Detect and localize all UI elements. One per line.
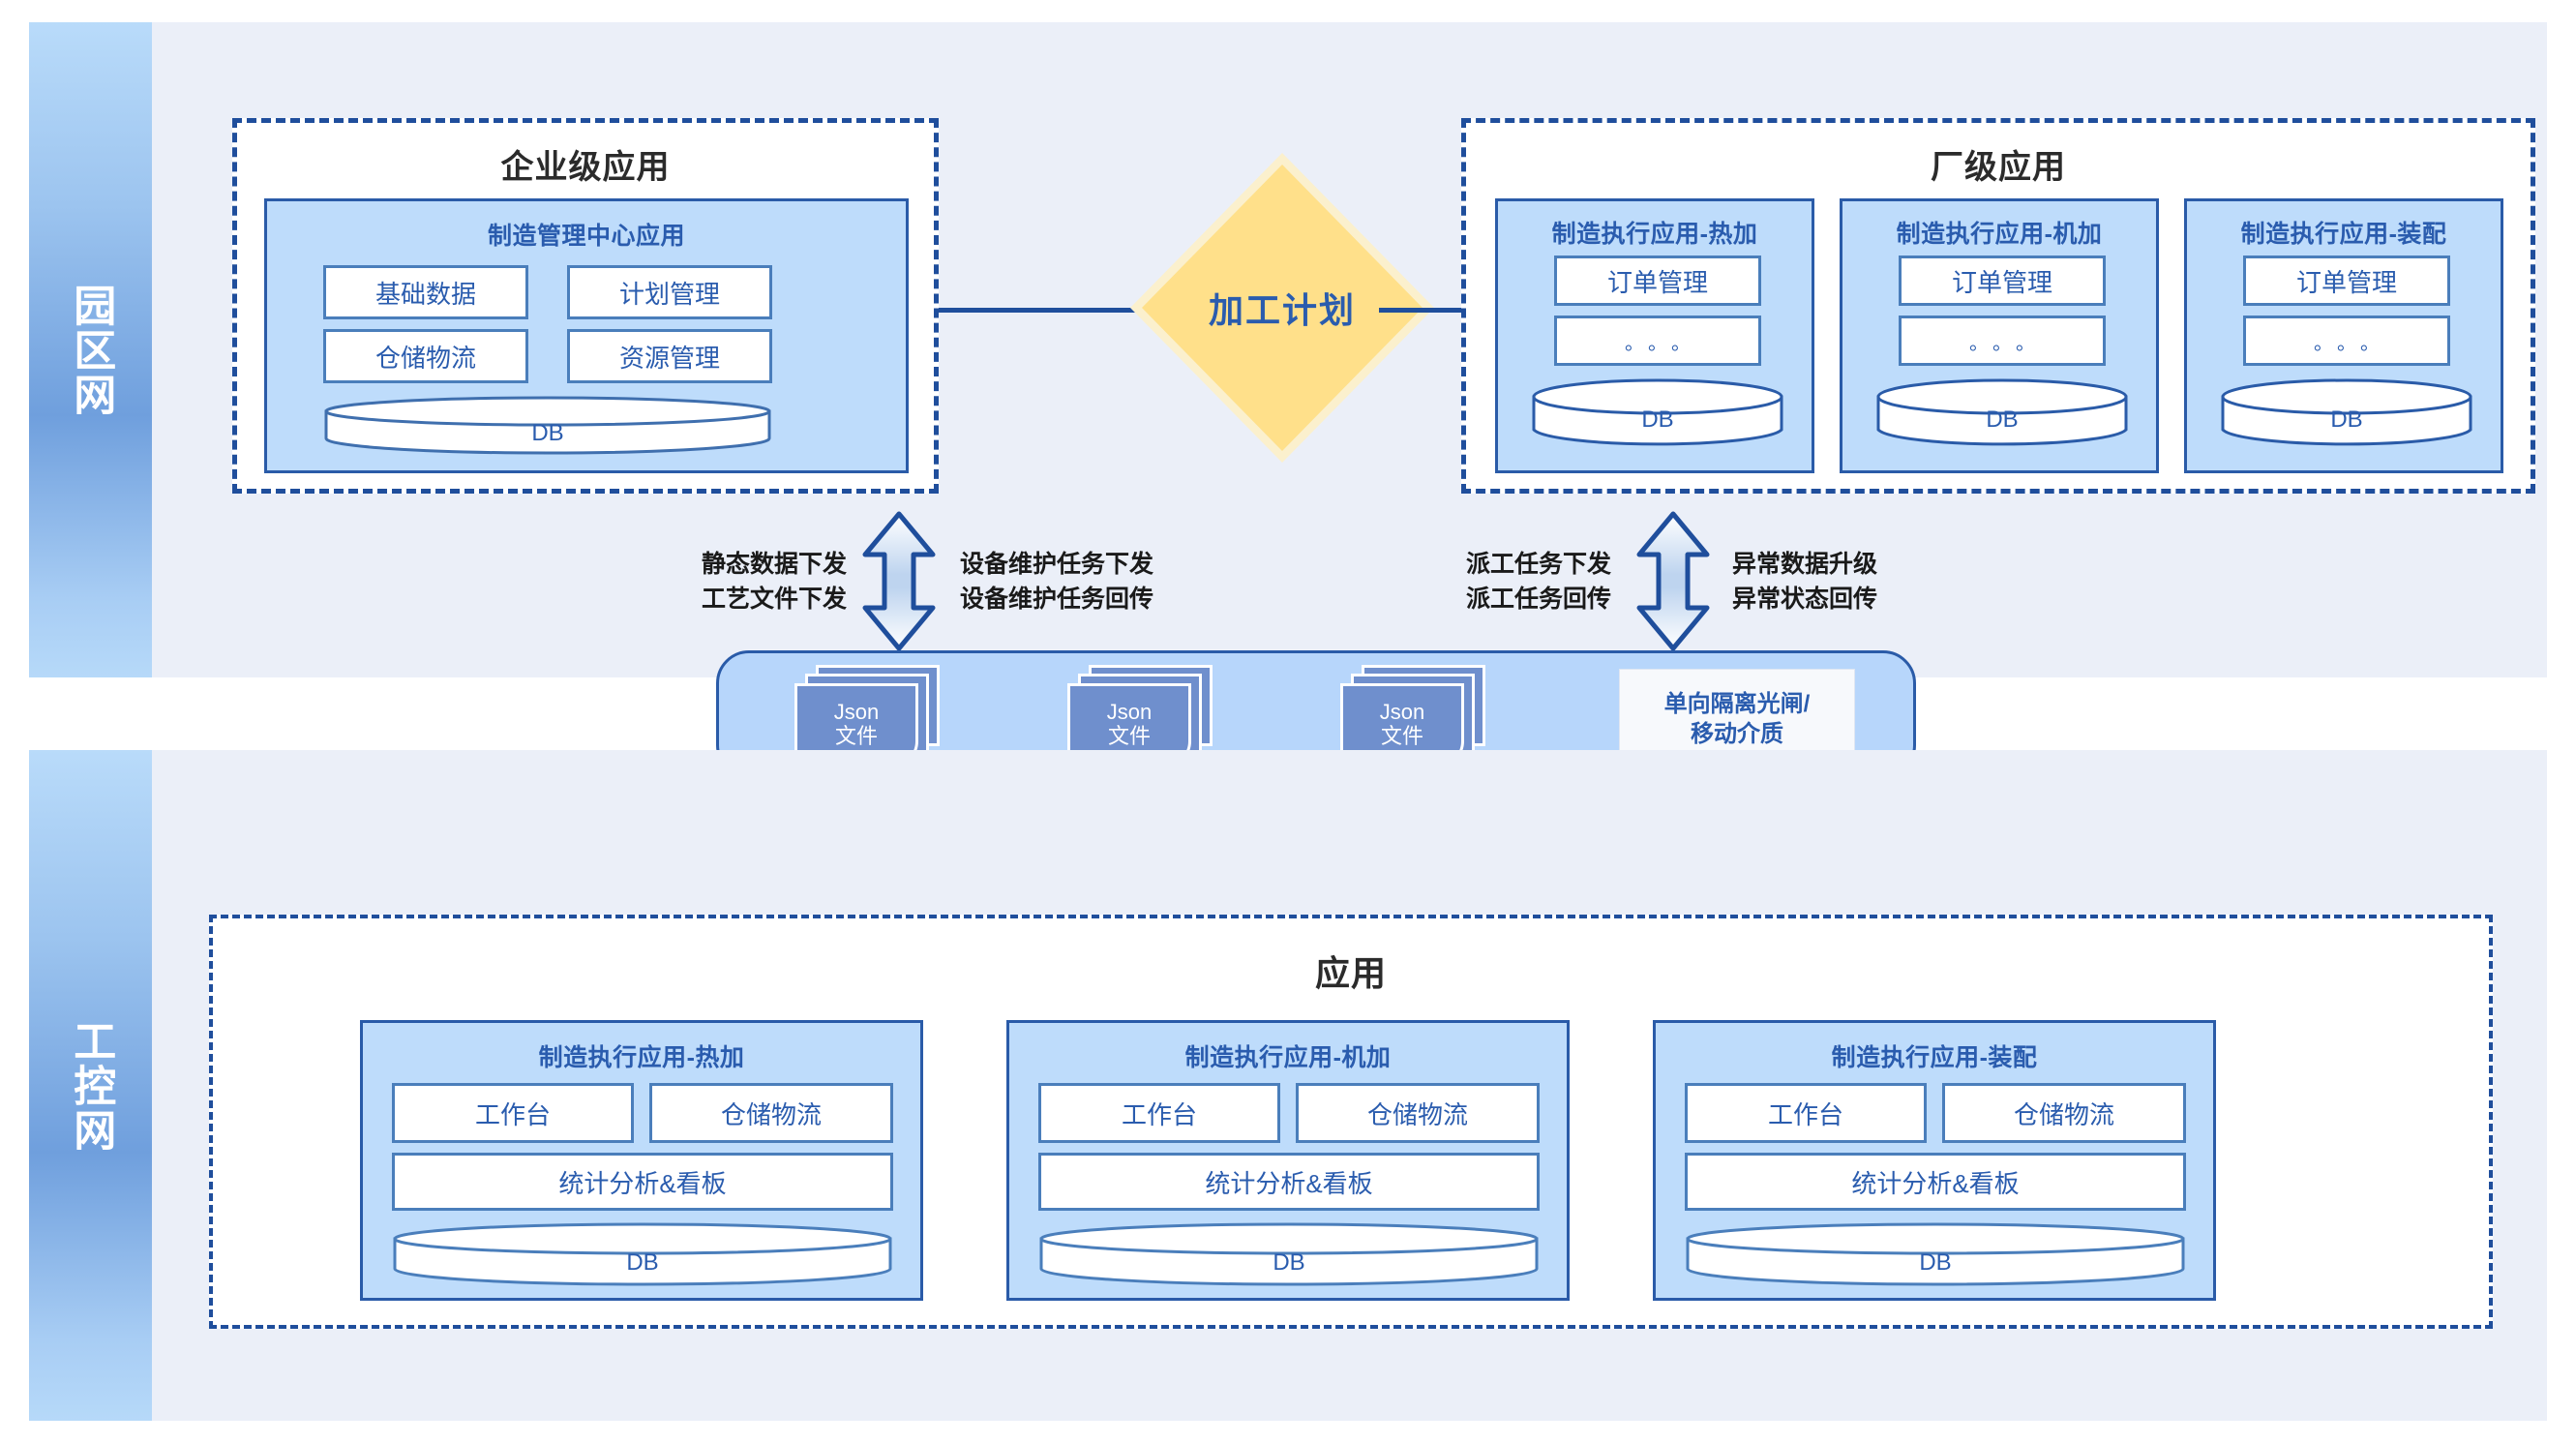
ics-panel-hot-processing[interactable]: 制造执行应用-热加 工作台 仓储物流 统计分析&看板 DB [360,1020,923,1301]
json-label-line1: Json [834,701,879,725]
factory-panel-assembly[interactable]: 制造执行应用-装配 订单管理 。。。 DB [2184,198,2503,473]
ics-module-warehouse-1[interactable]: 仓储物流 [649,1083,893,1143]
flow-label-maintenance-task: 设备维护任务下发 设备维护任务回传 [960,547,1153,617]
ics-module-workbench-1[interactable]: 工作台 [392,1083,634,1143]
ics-module-analytics-2[interactable]: 统计分析&看板 [1038,1153,1540,1211]
ics-module-workbench-2[interactable]: 工作台 [1038,1083,1280,1143]
ics-module-warehouse-3[interactable]: 仓储物流 [1942,1083,2186,1143]
ics-db-label-1: DB [392,1249,893,1277]
flow-line-2: 工艺文件下发 [619,582,847,616]
factory-db-3: DB [2220,377,2473,449]
gateway-to-factory-line [1379,308,1474,313]
factory-panel-title-2: 制造执行应用-机加 [1842,215,2156,250]
upper-double-arrow-right [1635,511,1711,651]
manufacturing-center-panel[interactable]: 制造管理中心应用 基础数据 计划管理 仓储物流 资源管理 DB [264,198,909,473]
flow-line-2: 异常状态回传 [1732,582,1877,616]
ics-panel-machining[interactable]: 制造执行应用-机加 工作台 仓储物流 统计分析&看板 DB [1006,1020,1570,1301]
enterprise-db-label: DB [323,420,772,447]
diagram-canvas: 园区网 企业级应用 制造管理中心应用 基础数据 计划管理 仓储物流 资源管理 D… [0,0,2576,1443]
factory-module-order-1[interactable]: 订单管理 [1554,256,1761,306]
ics-module-warehouse-2[interactable]: 仓储物流 [1296,1083,1540,1143]
ics-module-analytics-1[interactable]: 统计分析&看板 [392,1153,893,1211]
factory-module-order-2[interactable]: 订单管理 [1899,256,2106,306]
flow-line-1: 设备维护任务下发 [960,547,1153,582]
json-label-line1: Json [1107,701,1152,725]
factory-panel-title-3: 制造执行应用-装配 [2187,215,2501,250]
factory-module-order-3[interactable]: 订单管理 [2243,256,2450,306]
json-label-line1: Json [1380,701,1424,725]
flow-label-dispatch-task: 派工任务下发 派工任务回传 [1355,547,1611,617]
factory-panel-machining[interactable]: 制造执行应用-机加 订单管理 。。。 DB [1840,198,2159,473]
manufacturing-center-title: 制造管理中心应用 [267,217,906,252]
ics-panel-title-3: 制造执行应用-装配 [1656,1038,2213,1073]
upper-double-arrow-left [861,511,937,651]
json-label-line2: 文件 [835,725,878,749]
factory-module-more-2[interactable]: 。。。 [1899,316,2106,366]
factory-db-label-1: DB [1531,406,1784,434]
ics-module-workbench-3[interactable]: 工作台 [1685,1083,1927,1143]
ics-module-analytics-3[interactable]: 统计分析&看板 [1685,1153,2186,1211]
flow-line-1: 异常数据升级 [1732,547,1877,582]
gate-label-line1: 单向隔离光闸/ [1664,689,1811,719]
enterprise-db-cylinder: DB [323,395,772,455]
ics-panel-title-2: 制造执行应用-机加 [1009,1038,1567,1073]
ics-panel-assembly[interactable]: 制造执行应用-装配 工作台 仓储物流 统计分析&看板 DB [1653,1020,2216,1301]
ics-db-3: DB [1685,1222,2186,1286]
module-warehouse-logistics[interactable]: 仓储物流 [323,329,528,383]
factory-db-2: DB [1875,377,2129,449]
ics-group-frame: 应用 制造执行应用-热加 工作台 仓储物流 统计分析&看板 DB 制造执行应用-… [209,915,2493,1329]
factory-module-more-1[interactable]: 。。。 [1554,316,1761,366]
factory-db-label-3: DB [2220,406,2473,434]
ics-network-tab: 工控网 [29,750,152,1421]
ics-network-label: 工控网 [68,1019,114,1153]
module-basic-data[interactable]: 基础数据 [323,265,528,319]
json-label-line2: 文件 [1108,725,1151,749]
factory-group-frame: 厂级应用 制造执行应用-热加 订单管理 。。。 DB 制造执行应用-机加 订单管… [1461,118,2535,494]
json-label-line2: 文件 [1381,725,1423,749]
enterprise-group-frame: 企业级应用 制造管理中心应用 基础数据 计划管理 仓储物流 资源管理 DB [232,118,939,494]
factory-db-1: DB [1531,377,1784,449]
module-plan-management[interactable]: 计划管理 [567,265,772,319]
gate-label-line2: 移动介质 [1691,719,1783,749]
factory-panel-hot-processing[interactable]: 制造执行应用-热加 订单管理 。。。 DB [1495,198,1814,473]
ics-db-label-2: DB [1038,1249,1540,1277]
ics-db-1: DB [392,1222,893,1286]
ics-db-label-3: DB [1685,1249,2186,1277]
flow-line-2: 派工任务回传 [1355,582,1611,616]
park-network-label: 园区网 [68,284,114,417]
park-network-tab: 园区网 [29,22,152,677]
ics-panel-title-1: 制造执行应用-热加 [363,1038,920,1073]
flow-line-1: 静态数据下发 [619,547,847,582]
ics-db-2: DB [1038,1222,1540,1286]
factory-module-more-3[interactable]: 。。。 [2243,316,2450,366]
flow-label-static-data: 静态数据下发 工艺文件下发 [619,547,847,617]
ics-group-title: 应用 [213,946,2489,996]
factory-group-title: 厂级应用 [1466,140,2531,188]
enterprise-group-title: 企业级应用 [237,140,934,188]
factory-db-label-2: DB [1875,406,2129,434]
flow-line-2: 设备维护任务回传 [960,582,1153,616]
factory-panel-title-1: 制造执行应用-热加 [1498,215,1812,250]
module-resource-management[interactable]: 资源管理 [567,329,772,383]
flow-line-1: 派工任务下发 [1355,547,1611,582]
flow-label-exception-data: 异常数据升级 异常状态回传 [1732,547,1877,617]
